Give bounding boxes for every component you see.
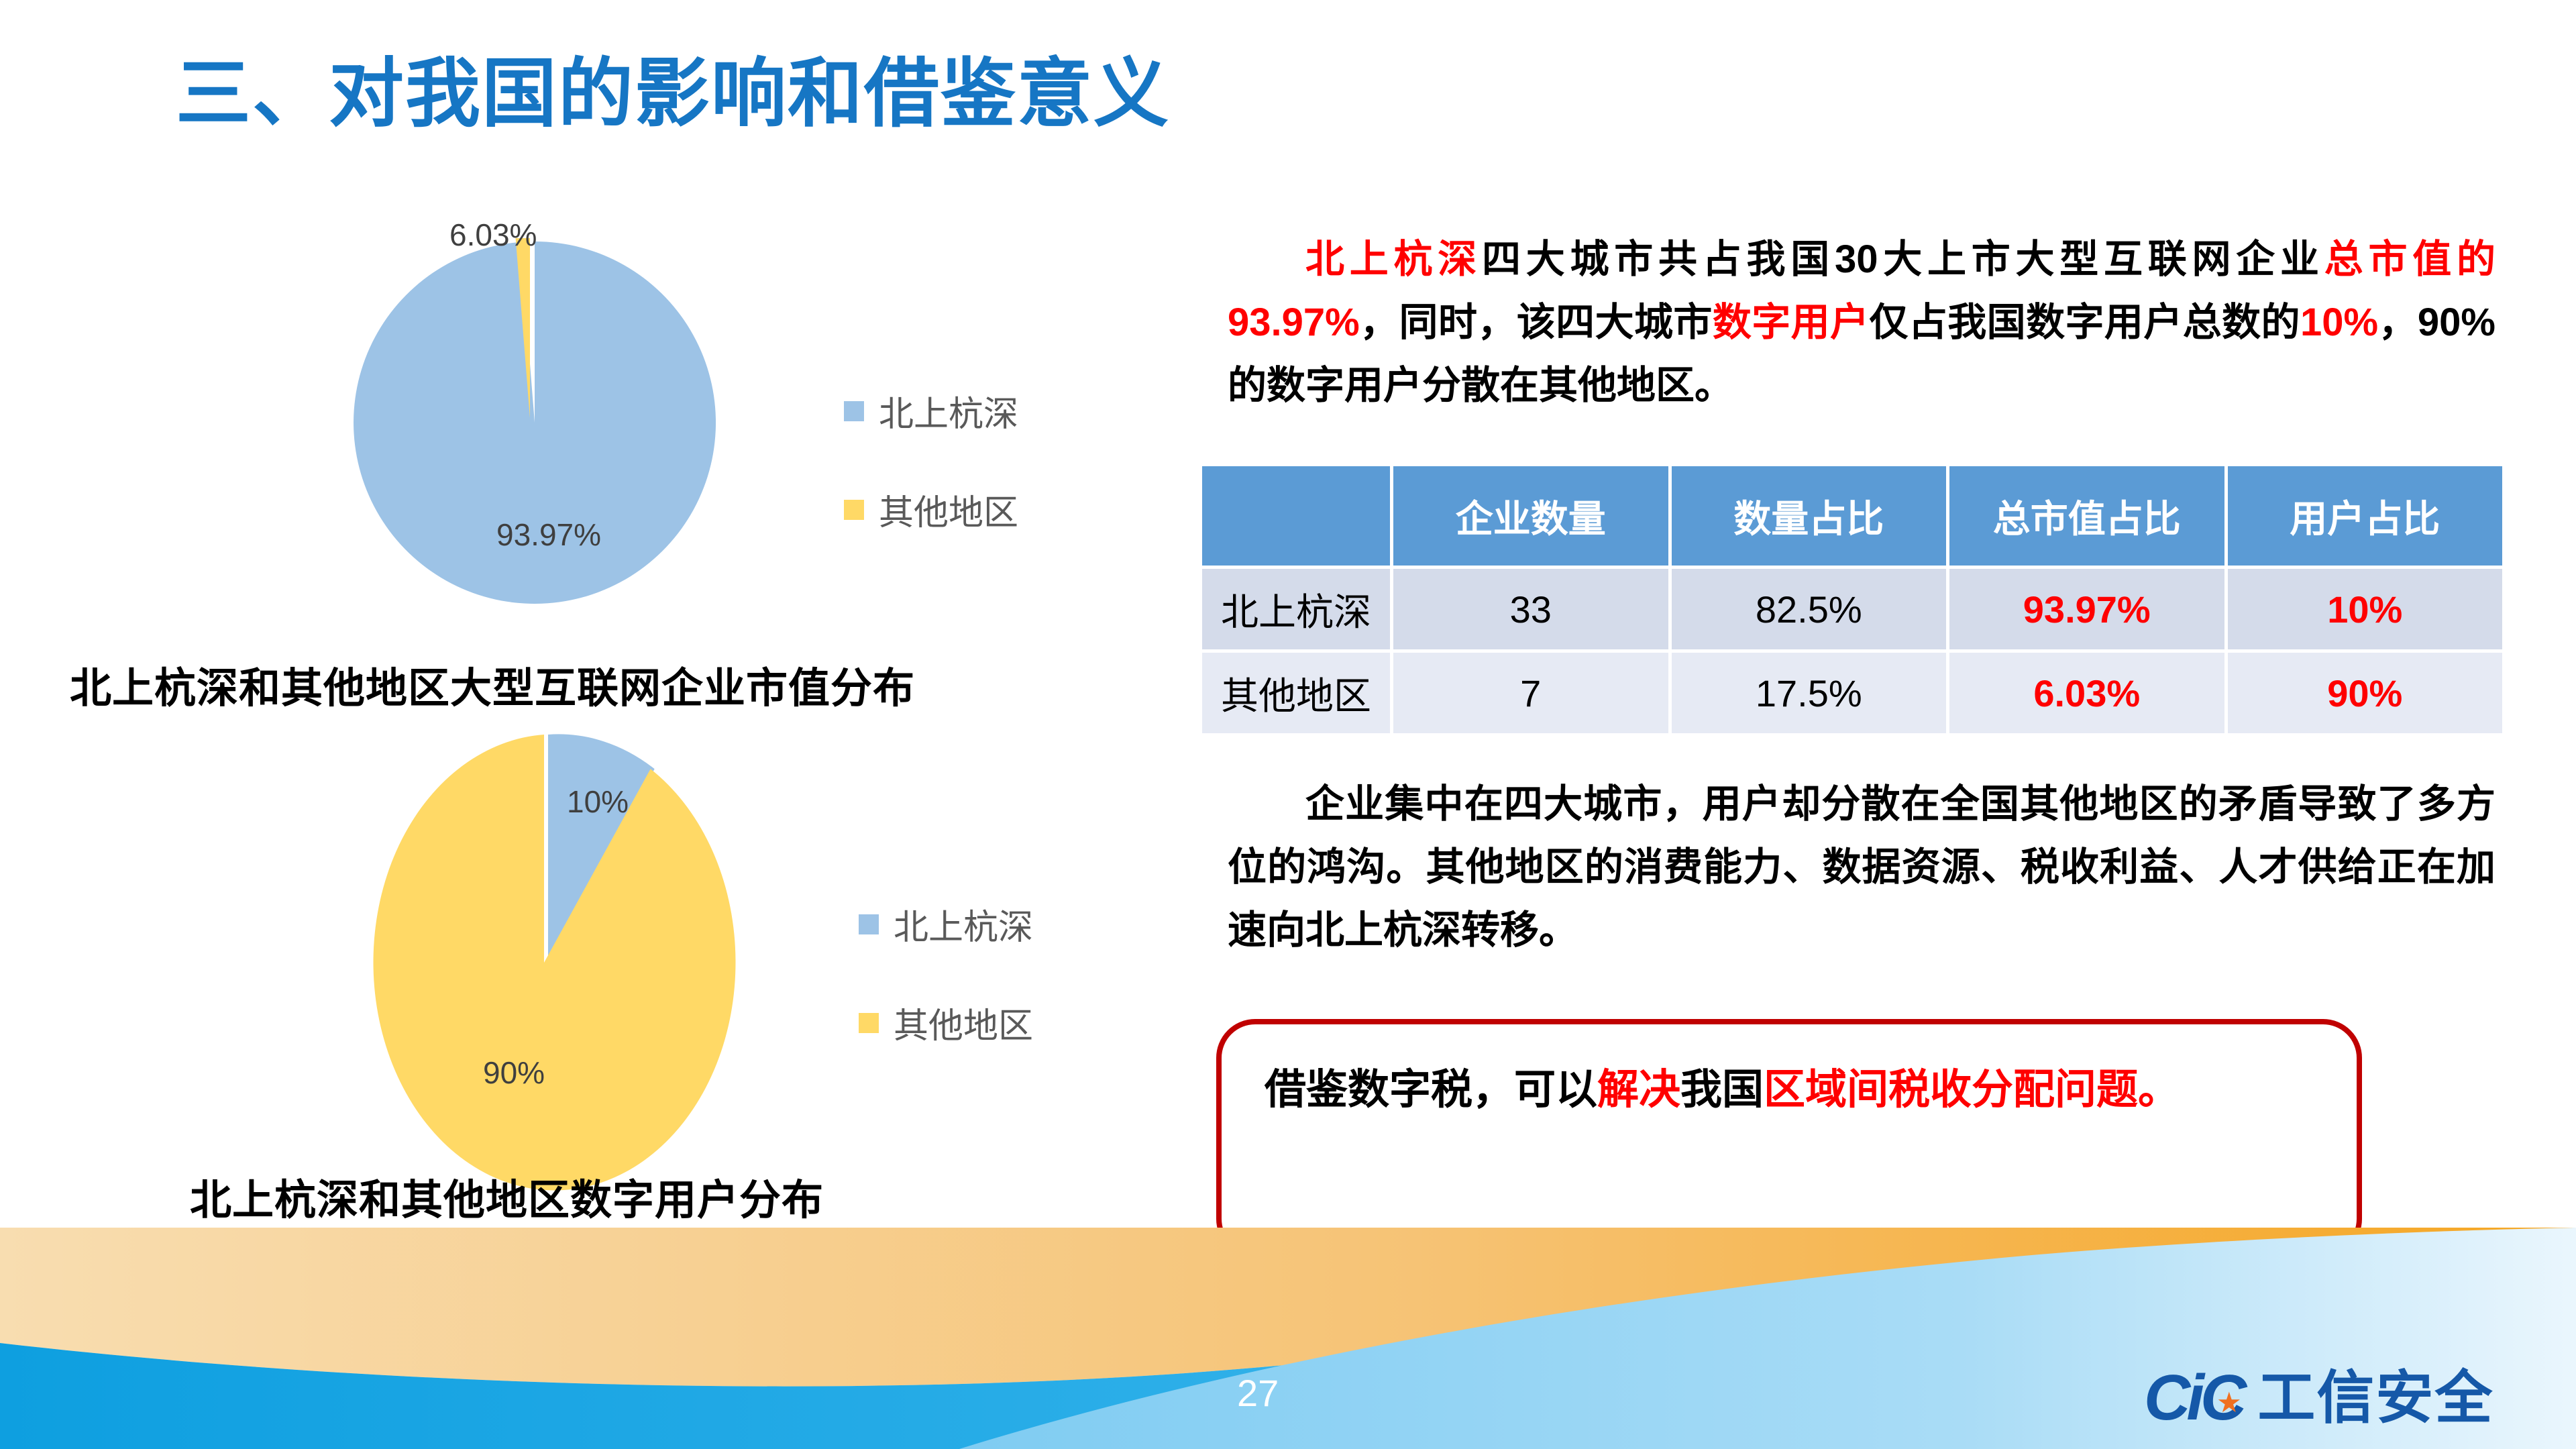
summary-paragraph-one-segment-3: ，同时，该四大城市 bbox=[1360, 301, 1713, 344]
table-cell-enterprise-count: 33 bbox=[1393, 569, 1668, 649]
table-header-blank bbox=[1202, 466, 1390, 566]
table-head: 企业数量 数量占比 总市值占比 用户占比 bbox=[1202, 466, 2502, 566]
logo-mark-icon: CiC ★ bbox=[2144, 1366, 2243, 1430]
summary-paragraph-one-segment-5: 仅占我国数字用户总数的 bbox=[1869, 301, 2300, 344]
table-body: 北上杭深 33 82.5% 93.97% 10% 其他地区 7 17.5% 6.… bbox=[1202, 569, 2502, 733]
table-cell-region-name: 其他地区 bbox=[1202, 653, 1390, 733]
page-number: 27 bbox=[1237, 1371, 1279, 1415]
legend-swatch-icon-yellow bbox=[844, 500, 864, 520]
legend-item-other-regions[interactable]: 其他地区 bbox=[859, 998, 1033, 1048]
legend-label-beijing-shanghai-hangzhou-shenzhen: 北上杭深 bbox=[894, 899, 1033, 949]
table-row: 其他地区 7 17.5% 6.03% 90% bbox=[1202, 653, 2502, 733]
table-cell-market-value-share: 93.97% bbox=[1949, 569, 2224, 649]
summary-paragraph-two: 企业集中在四大城市，用户却分散在全国其他地区的矛盾导致了多方位的鸿沟。其他地区的… bbox=[1228, 773, 2495, 962]
table-header-market-value-share: 总市值占比 bbox=[1949, 466, 2224, 566]
pie-svg-digital-users bbox=[366, 731, 741, 1194]
logo-star-icon: ★ bbox=[2216, 1389, 2238, 1417]
legend-market-value: 北上杭深 其他地区 bbox=[844, 386, 1018, 583]
conclusion-callout-text: 借鉴数字税，可以解决我国区域间税收分配问题。 bbox=[1265, 1057, 2330, 1124]
table-cell-count-share: 82.5% bbox=[1672, 569, 1947, 649]
conclusion-callout-box: 借鉴数字税，可以解决我国区域间税收分配问题。 bbox=[1216, 1019, 2362, 1258]
slide-canvas: 三、对我国的影响和借鉴意义 6.03% 93.97% 北上杭深 其他地区 北上杭… bbox=[0, 0, 2576, 1449]
summary-paragraph-one-segment-0: 北上杭深 bbox=[1305, 237, 1482, 281]
table-cell-market-value-share: 6.03% bbox=[1949, 653, 2224, 733]
table-cell-enterprise-count: 7 bbox=[1393, 653, 1668, 733]
conclusion-callout-segment-2: 我国 bbox=[1680, 1067, 1764, 1113]
table-header-enterprise-count: 企业数量 bbox=[1393, 466, 1668, 566]
legend-swatch-icon-blue bbox=[859, 914, 879, 934]
page-title: 三、对我国的影响和借鉴意义 bbox=[176, 52, 1170, 135]
table-header-user-share: 用户占比 bbox=[2228, 466, 2503, 566]
legend-item-beijing-shanghai-hangzhou-shenzhen[interactable]: 北上杭深 bbox=[844, 386, 1018, 436]
logo-wordmark: 工信安全 bbox=[2257, 1369, 2493, 1427]
pie-svg-market-value bbox=[352, 238, 718, 614]
pie-label-beijing-shanghai-hangzhou-shenzhen: 93.97% bbox=[496, 517, 601, 553]
pie-label-other-regions: 90% bbox=[483, 1055, 545, 1091]
table-row: 北上杭深 33 82.5% 93.97% 10% bbox=[1202, 569, 2502, 649]
legend-label-beijing-shanghai-hangzhou-shenzhen: 北上杭深 bbox=[879, 386, 1018, 436]
table-cell-count-share: 17.5% bbox=[1672, 653, 1947, 733]
summary-paragraph-one-segment-6: 10% bbox=[2300, 301, 2378, 344]
pie-label-beijing-shanghai-hangzhou-shenzhen: 10% bbox=[567, 784, 629, 820]
legend-swatch-icon-yellow bbox=[859, 1013, 879, 1033]
chart-caption-digital-users: 北上杭深和其他地区数字用户分布 bbox=[190, 1166, 824, 1226]
table-header-row: 企业数量 数量占比 总市值占比 用户占比 bbox=[1202, 466, 2502, 566]
legend-swatch-icon-blue bbox=[844, 401, 864, 421]
summary-paragraph-one-segment-4: 数字用户 bbox=[1713, 301, 1870, 344]
distribution-table: 企业数量 数量占比 总市值占比 用户占比 北上杭深 33 82.5% 93.97… bbox=[1199, 463, 2506, 737]
pie-chart-digital-users: 10% 90% bbox=[366, 731, 741, 1194]
pie-chart-market-value: 6.03% 93.97% bbox=[352, 238, 718, 614]
legend-item-other-regions[interactable]: 其他地区 bbox=[844, 484, 1018, 535]
table-cell-region-name: 北上杭深 bbox=[1202, 569, 1390, 649]
summary-paragraph-one: 北上杭深四大城市共占我国30大上市大型互联网企业总市值的93.97%，同时，该四… bbox=[1228, 228, 2495, 417]
legend-label-other-regions: 其他地区 bbox=[894, 998, 1033, 1048]
legend-digital-users: 北上杭深 其他地区 bbox=[859, 899, 1033, 1096]
summary-paragraph-one-segment-1: 四大城市共占我国30大上市大型互联网企业 bbox=[1482, 237, 2324, 281]
legend-item-beijing-shanghai-hangzhou-shenzhen[interactable]: 北上杭深 bbox=[859, 899, 1033, 949]
table-cell-user-share: 10% bbox=[2228, 569, 2503, 649]
table-cell-user-share: 90% bbox=[2228, 653, 2503, 733]
pie-label-other-regions: 6.03% bbox=[449, 217, 537, 253]
organization-logo: CiC ★ 工信安全 bbox=[2144, 1360, 2493, 1436]
legend-label-other-regions: 其他地区 bbox=[879, 484, 1018, 535]
conclusion-callout-segment-0: 借鉴数字税，可以 bbox=[1265, 1067, 1597, 1113]
chart-caption-market-value: 北上杭深和其他地区大型互联网企业市值分布 bbox=[70, 654, 915, 714]
conclusion-callout-segment-3: 区域间税收分配问题。 bbox=[1764, 1067, 2180, 1113]
table-header-count-share: 数量占比 bbox=[1672, 466, 1947, 566]
conclusion-callout-segment-1: 解决 bbox=[1597, 1067, 1680, 1113]
